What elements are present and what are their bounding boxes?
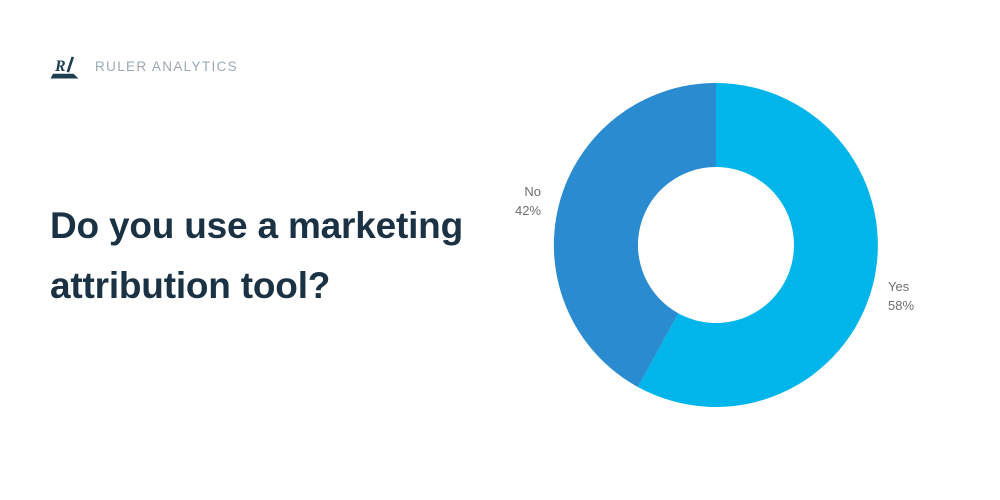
- slice-label-no-value: 42%: [515, 201, 541, 220]
- slice-label-yes-name: Yes: [888, 277, 914, 296]
- ruler-analytics-r-slash-logo-icon: R: [50, 54, 84, 80]
- brand-logo: R RULER ANALYTICS: [50, 54, 238, 80]
- svg-text:R: R: [54, 58, 66, 75]
- slice-label-yes: Yes 58%: [888, 277, 914, 315]
- slice-label-yes-value: 58%: [888, 296, 914, 315]
- slice-label-no-name: No: [515, 182, 541, 201]
- slide-canvas: R RULER ANALYTICS Do you use a marketing…: [0, 0, 1000, 500]
- brand-name: RULER ANALYTICS: [95, 60, 238, 74]
- donut-chart: No 42% Yes 58%: [490, 55, 960, 445]
- slice-label-no: No 42%: [515, 182, 541, 220]
- page-title: Do you use a marketing attribution tool?: [50, 196, 480, 316]
